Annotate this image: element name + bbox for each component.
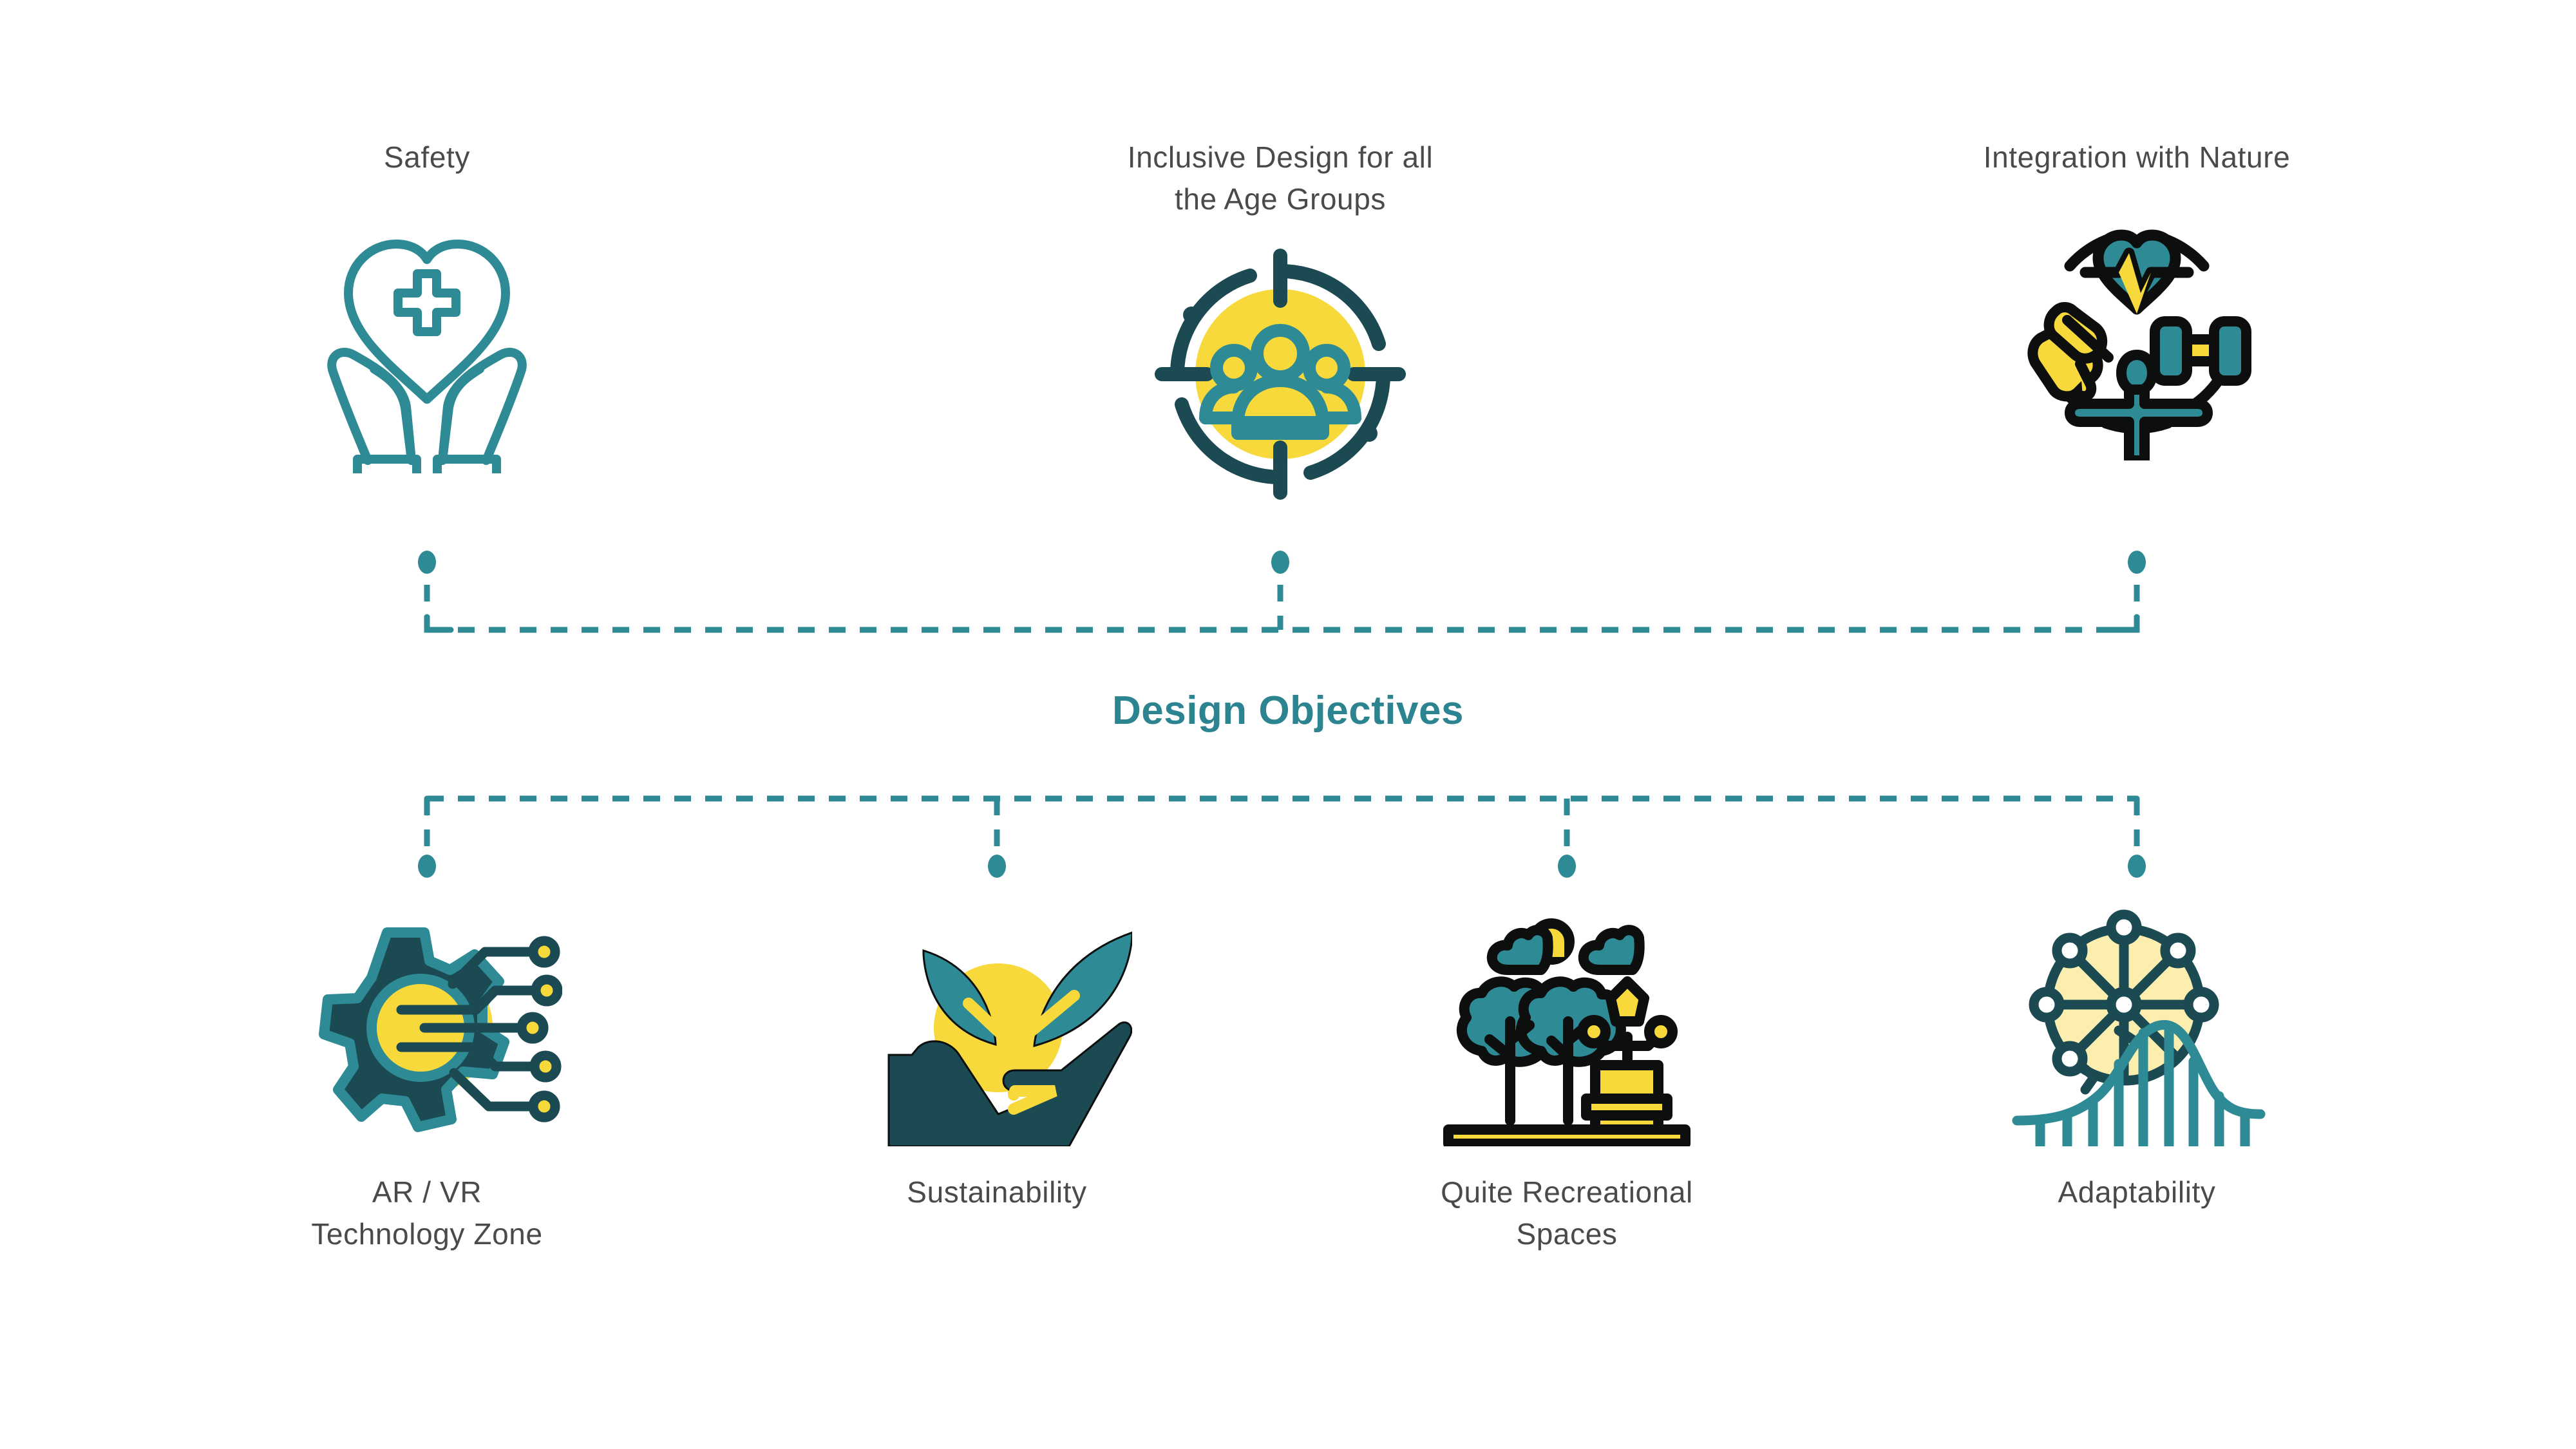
branch-ar-vr-technology-zone[interactable]: AR / VR Technology Zone: [182, 902, 672, 1256]
branch-label-inclusive-design: Inclusive Design for all the Age Groups: [1128, 137, 1434, 221]
branch-label-safety: Safety: [384, 137, 470, 178]
wellness-circle-heartbeat-dumbbell-person-icon: [2008, 203, 2266, 464]
gear-with-circuit-traces-icon: [292, 902, 562, 1150]
branch-label-sustainability: Sustainability: [907, 1171, 1086, 1213]
branch-label-ar-vr-technology-zone: AR / VR Technology Zone: [311, 1171, 542, 1256]
branch-sustainability[interactable]: Sustainability: [752, 902, 1242, 1213]
branch-integration-with-nature[interactable]: Integration with Nature: [1892, 137, 2382, 464]
branch-label-quite-recreational-spaces: Quite Recreational Spaces: [1441, 1171, 1693, 1256]
park-trees-bench-lamppost-icon: [1438, 902, 1696, 1150]
branch-quite-recreational-spaces[interactable]: Quite Recreational Spaces: [1322, 902, 1812, 1256]
branch-adaptability[interactable]: Adaptability: [1892, 902, 2382, 1213]
branch-inclusive-design[interactable]: Inclusive Design for all the Age Groups: [1036, 137, 1525, 506]
target-crosshair-with-group-of-people-icon: [1151, 245, 1409, 506]
branch-label-adaptability: Adaptability: [2058, 1171, 2215, 1213]
hand-holding-sprout-with-sun-icon: [862, 902, 1132, 1150]
hands-holding-heart-with-medical-cross-icon: [298, 203, 556, 477]
diagram-title: Design Objectives: [0, 688, 2576, 734]
branch-safety[interactable]: Safety: [182, 137, 672, 477]
branch-label-integration-with-nature: Integration with Nature: [1984, 137, 2291, 178]
ferris-wheel-and-roller-coaster-icon: [2008, 902, 2266, 1150]
infographic-canvas: Safety: [0, 0, 2576, 1449]
